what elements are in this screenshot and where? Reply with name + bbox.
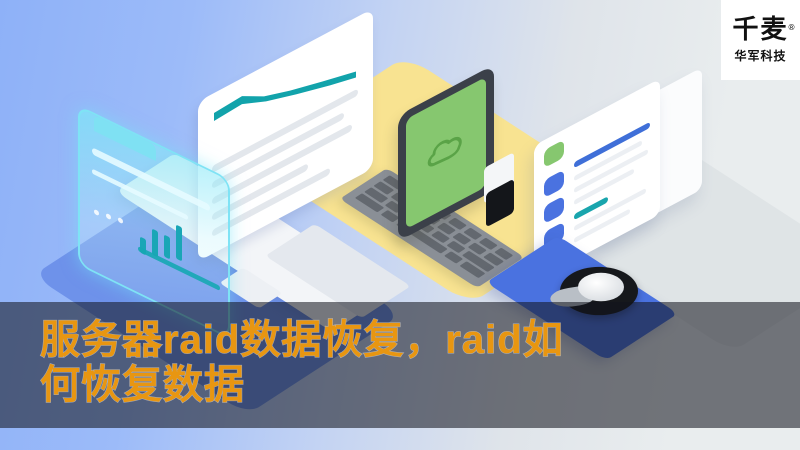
registered-trademark-icon: ® (788, 14, 798, 42)
logo-main-label: 千麦 (732, 15, 788, 45)
green-tag-icon (544, 140, 564, 169)
banner-image: 服务器raid数据恢复，raid如 何恢复数据 千麦 ® 华军科技 (0, 0, 800, 450)
holo-bar (164, 235, 170, 260)
banner-title: 服务器raid数据恢复，raid如 何恢复数据 (40, 318, 680, 408)
cloud-icon (425, 125, 467, 177)
hard-drive-spindle-hub (578, 273, 624, 302)
brand-logo: 千麦 ® 华军科技 (721, 0, 800, 80)
user-tag-icon (544, 170, 564, 199)
user-tag-icon (544, 196, 564, 225)
logo-main-text: 千麦 ® (732, 16, 788, 44)
holo-bar (176, 225, 182, 262)
title-line-1: 服务器raid数据恢复，raid如 (40, 318, 680, 363)
logo-sub-text: 华军科技 (734, 47, 786, 64)
usb-drive-illustration (480, 160, 518, 222)
holographic-data-panel (78, 142, 230, 302)
title-line-2: 何恢复数据 (40, 363, 680, 408)
